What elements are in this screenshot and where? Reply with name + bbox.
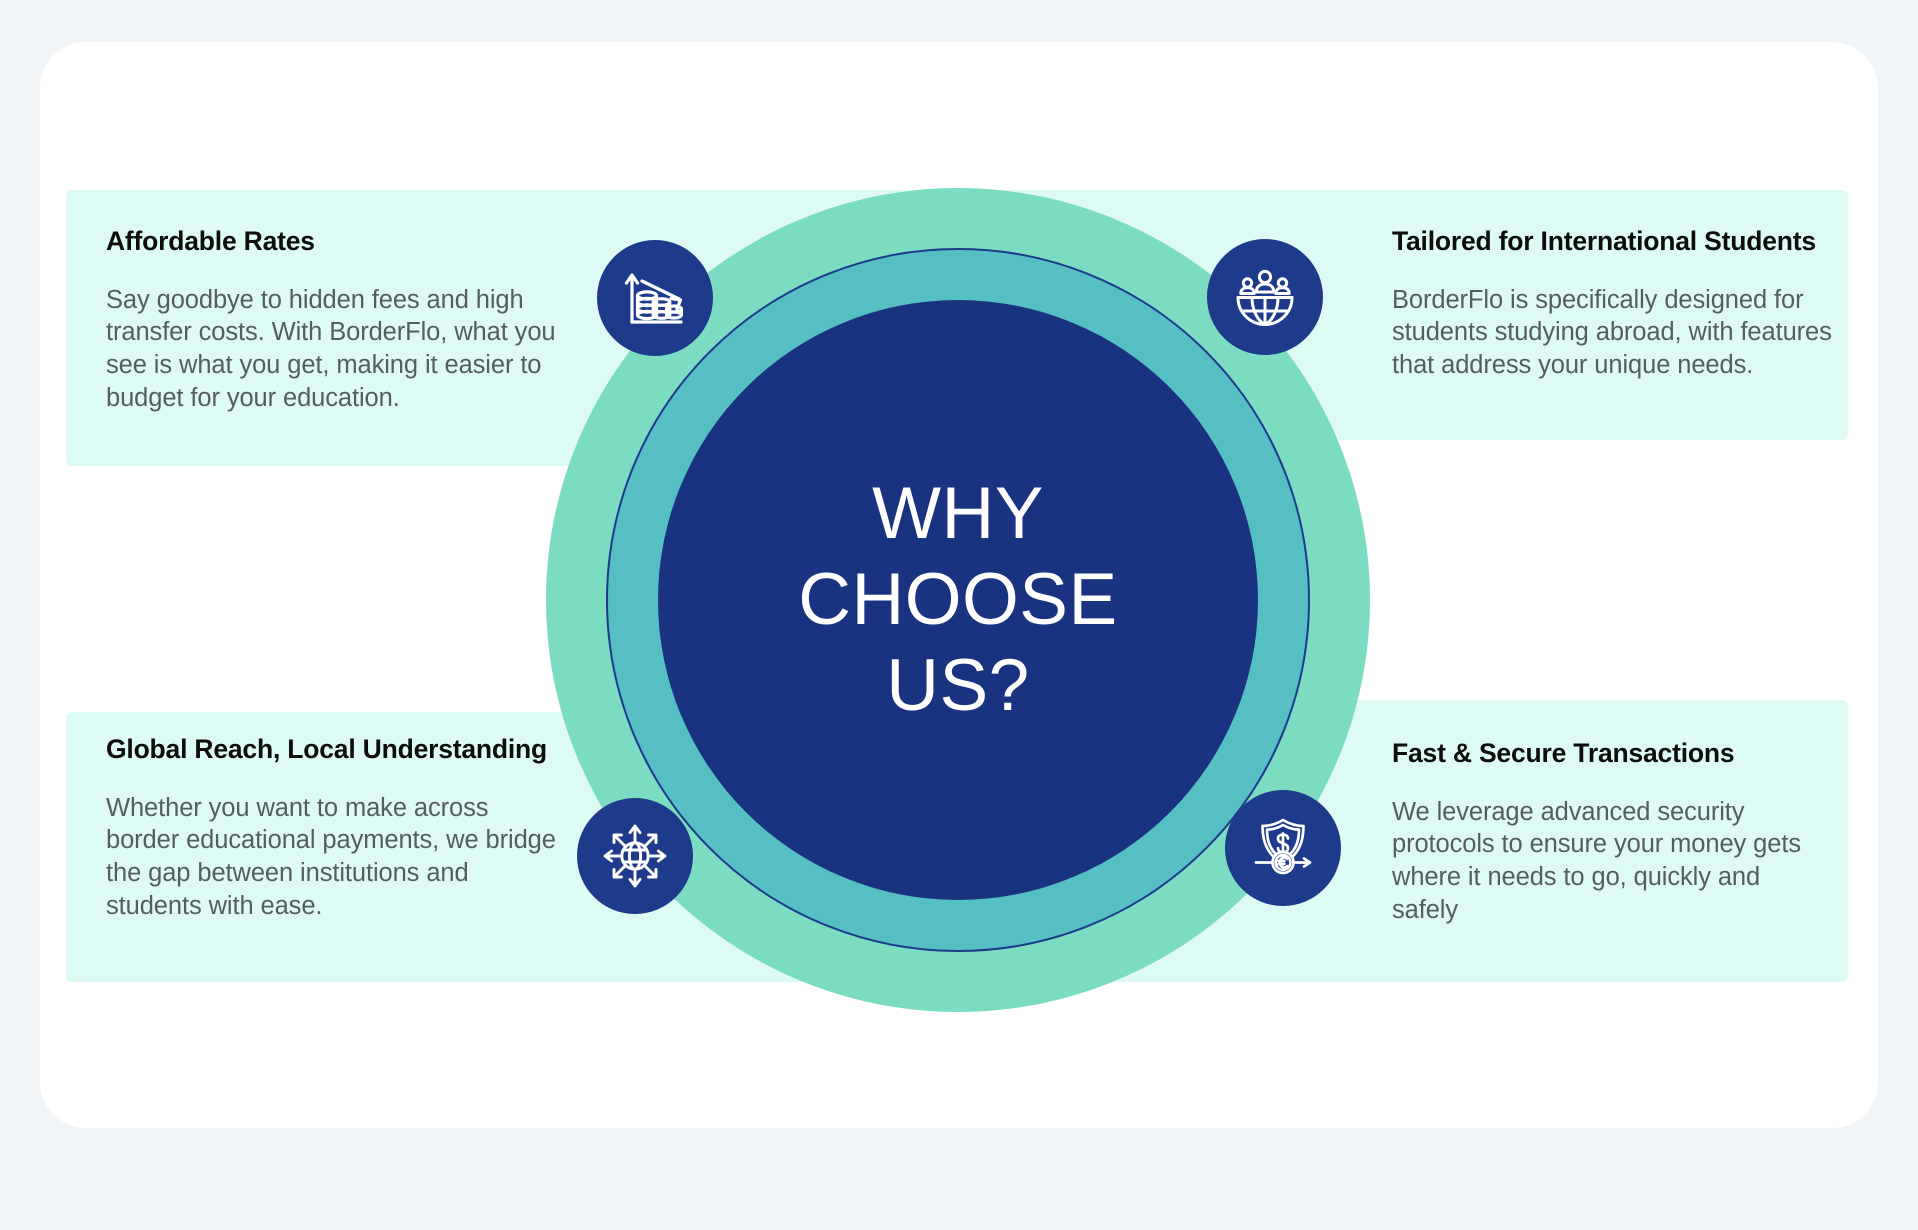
globe-people-icon bbox=[1234, 268, 1296, 326]
center-heading-line-1: WHY bbox=[798, 471, 1117, 557]
globe-arrows-icon bbox=[602, 823, 668, 889]
feature-title: Fast & Secure Transactions bbox=[1392, 738, 1822, 770]
shield-dollar-euro-icon bbox=[1251, 817, 1315, 879]
feature-text-affordable-rates: Affordable Rates Say goodbye to hidden f… bbox=[106, 226, 556, 414]
feature-body: Whether you want to make across border e… bbox=[106, 792, 566, 923]
feature-title: Tailored for International Students bbox=[1392, 226, 1844, 258]
center-heading-line-2: CHOOSE bbox=[798, 557, 1117, 643]
feature-body: Say goodbye to hidden fees and high tran… bbox=[106, 284, 556, 415]
center-heading-line-3: US? bbox=[798, 643, 1117, 729]
icon-badge-fast-secure-transactions[interactable] bbox=[1225, 790, 1341, 906]
center-heading: WHY CHOOSE US? bbox=[798, 471, 1117, 729]
feature-text-global-reach-local-understanding: Global Reach, Local Understanding Whethe… bbox=[106, 734, 566, 922]
icon-badge-global-reach-local-understanding[interactable] bbox=[577, 798, 693, 914]
feature-body: BorderFlo is specifically designed for s… bbox=[1392, 284, 1844, 382]
infographic-stage: WHY CHOOSE US? bbox=[0, 0, 1918, 1230]
feature-text-fast-secure-transactions: Fast & Secure Transactions We leverage a… bbox=[1392, 738, 1822, 926]
cost-down-chart-icon bbox=[623, 268, 687, 328]
icon-badge-affordable-rates[interactable] bbox=[597, 240, 713, 356]
icon-badge-tailored-international-students[interactable] bbox=[1207, 239, 1323, 355]
feature-title: Global Reach, Local Understanding bbox=[106, 734, 566, 766]
feature-text-tailored-international-students: Tailored for International Students Bord… bbox=[1392, 226, 1844, 382]
feature-title: Affordable Rates bbox=[106, 226, 556, 258]
center-navy-circle: WHY CHOOSE US? bbox=[658, 300, 1258, 900]
feature-body: We leverage advanced security protocols … bbox=[1392, 796, 1822, 927]
